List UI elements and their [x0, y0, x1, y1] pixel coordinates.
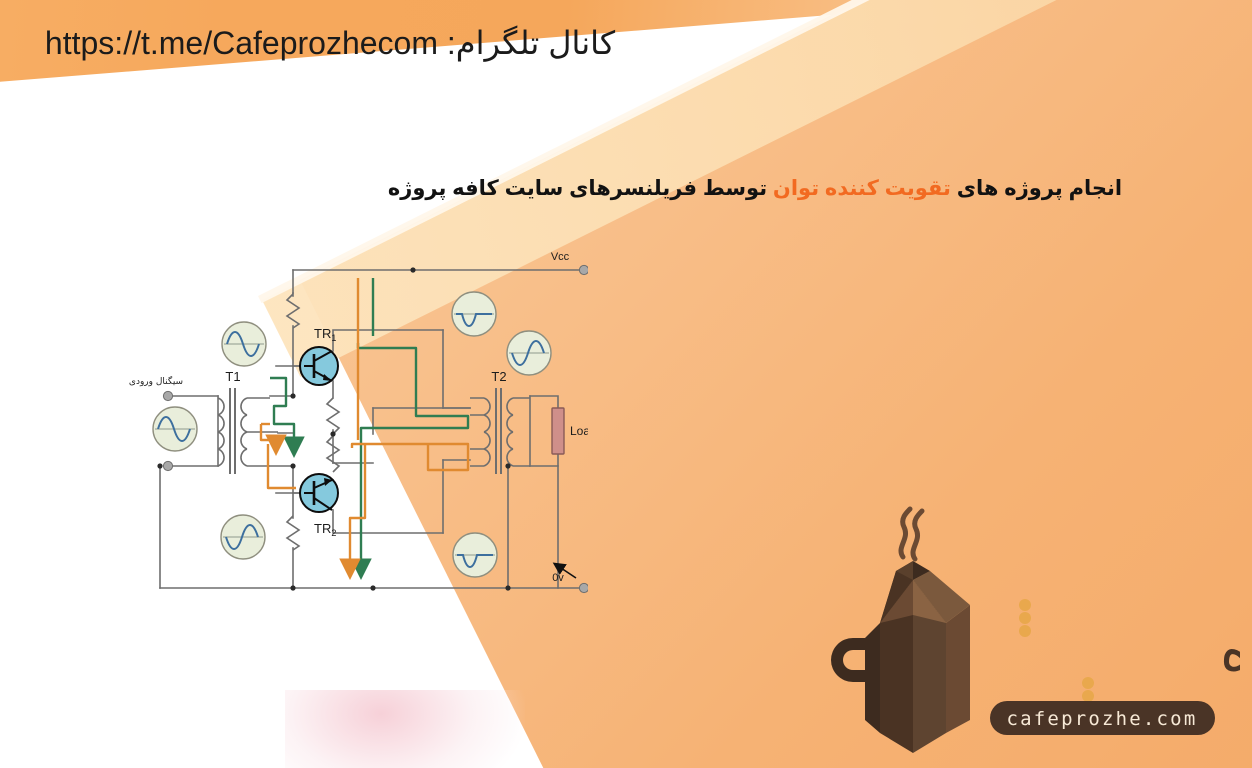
circuit-diagram: Vcc 0v T1 T2 Load TR1 TR2 سیگنال ورودی	[118, 248, 588, 608]
transistor-tr1	[300, 347, 338, 385]
label-tr1-text: TR	[314, 326, 331, 341]
label-tr2-text: TR	[314, 521, 331, 536]
cafeprozhe-logo[interactable]: کافه پروژه cafeprozhe.com	[820, 505, 1240, 755]
label-t2: T2	[491, 369, 506, 384]
terminal-vcc	[579, 265, 588, 274]
label-vcc: Vcc	[551, 251, 570, 263]
page-title-part1: انجام پروژه های	[951, 177, 1122, 200]
current-path-positive	[270, 278, 468, 568]
cream-diagonal-stripe-top-right-2	[1063, 0, 1252, 288]
label-load: Load	[570, 424, 588, 438]
scope-input	[153, 407, 197, 451]
scope-tr2-base	[221, 515, 265, 559]
mug-icon	[865, 561, 970, 753]
resistor-r2	[287, 516, 299, 550]
steam-icon	[901, 509, 922, 559]
scope-tr1-collector	[452, 292, 496, 336]
resistor-r3	[327, 398, 339, 434]
telegram-channel-label: کانال تلگرام	[456, 25, 615, 61]
terminal-input-bottom	[163, 461, 172, 470]
terminal-input-top	[163, 391, 172, 400]
scope-tr1-base	[222, 322, 266, 366]
load-resistor	[552, 408, 564, 454]
orange-wedge-pink-blush	[285, 690, 525, 768]
terminal-gnd	[579, 583, 588, 592]
telegram-header: کانال تلگرام: https://t.me/Cafeprozhecom	[0, 24, 660, 62]
label-gnd: 0v	[552, 572, 564, 584]
label-input-signal: سیگنال ورودی	[129, 375, 183, 387]
label-tr1-sub: 1	[331, 333, 336, 343]
transformer-t2	[470, 388, 530, 474]
mug-handle-icon	[831, 638, 865, 682]
logo-dots-icon	[1019, 599, 1094, 715]
page-title: انجام پروژه های تقویت کننده توان توسط فر…	[300, 176, 1210, 201]
page-title-part2: توسط فریلنسرهای سایت کافه پروژه	[388, 177, 773, 200]
telegram-separator: :	[447, 25, 456, 61]
label-tr2-sub: 2	[331, 528, 336, 538]
logo-domain-text: cafeprozhe.com	[1007, 708, 1198, 730]
page-root: کانال تلگرام: https://t.me/Cafeprozhecom…	[0, 0, 1252, 768]
resistor-r1	[287, 294, 299, 328]
scope-tr2-collector	[453, 533, 497, 577]
page-title-highlight: تقویت کننده توان	[773, 177, 951, 200]
logo-brand-text: کافه پروژه	[1220, 616, 1240, 685]
label-t1: T1	[225, 369, 240, 384]
label-tr1: TR1	[314, 326, 336, 343]
telegram-url-link[interactable]: https://t.me/Cafeprozhecom	[45, 25, 438, 61]
scope-output	[507, 331, 551, 375]
cream-diagonal-stripe-top-right	[1019, 0, 1252, 484]
transistor-tr2	[300, 474, 338, 512]
